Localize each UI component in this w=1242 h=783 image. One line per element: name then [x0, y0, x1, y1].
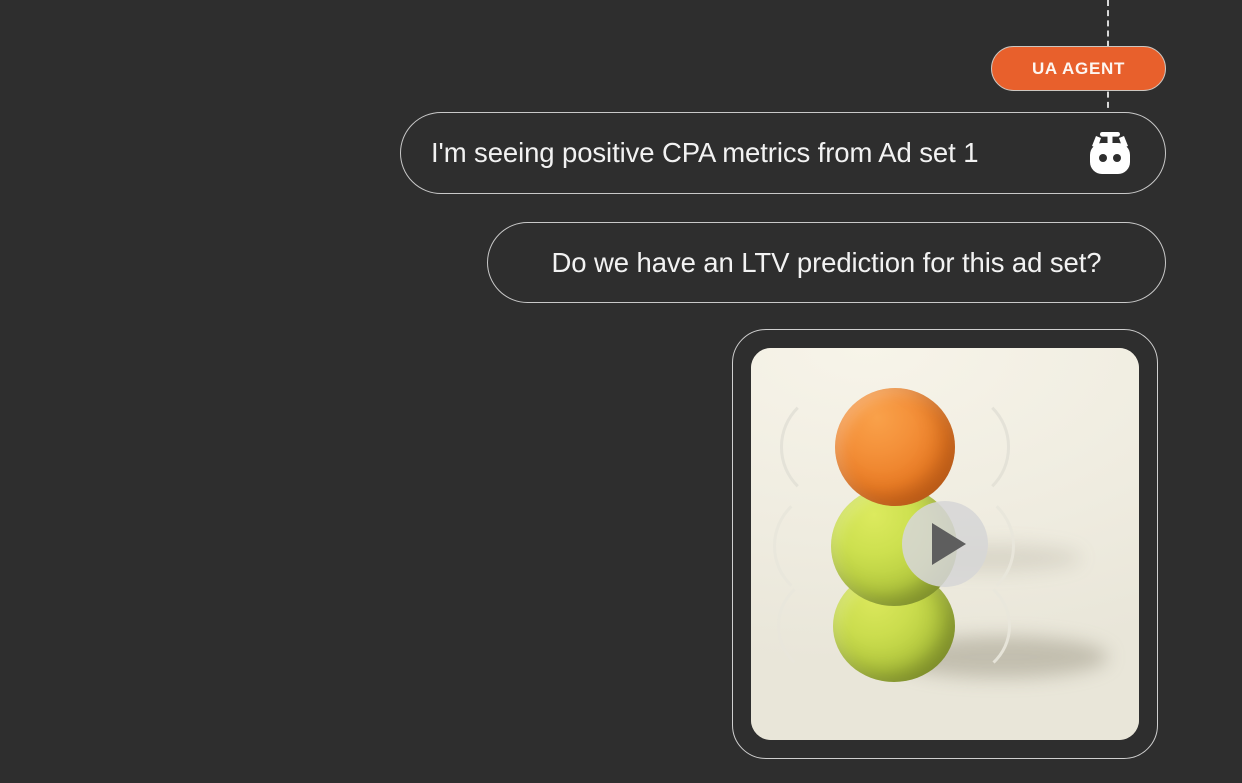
seam-left — [780, 390, 895, 503]
message-bubble-1-text: I'm seeing positive CPA metrics from Ad … — [431, 139, 978, 167]
ua-agent-badge[interactable]: UA AGENT — [991, 46, 1166, 91]
play-icon[interactable] — [902, 501, 988, 587]
play-triangle — [932, 523, 966, 565]
video-thumbnail — [751, 348, 1139, 740]
seam-right — [895, 390, 1010, 503]
message-bubble-2-text: Do we have an LTV prediction for this ad… — [552, 249, 1102, 277]
robot-head-icon — [1083, 132, 1137, 174]
message-bubble-1[interactable]: I'm seeing positive CPA metrics from Ad … — [400, 112, 1166, 194]
top-orange-tennis-ball — [835, 388, 955, 506]
ua-agent-badge-label: UA AGENT — [1032, 60, 1125, 77]
message-bubble-2[interactable]: Do we have an LTV prediction for this ad… — [487, 222, 1166, 303]
video-message-card[interactable] — [732, 329, 1158, 759]
seam-left — [773, 488, 894, 603]
